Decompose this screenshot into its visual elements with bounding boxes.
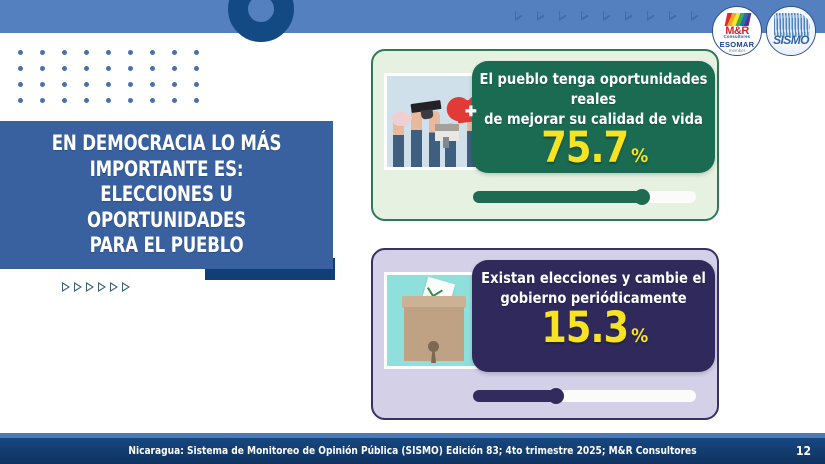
card-value-group: 75.7 %: [539, 127, 649, 170]
dot: [150, 82, 155, 87]
dot: [84, 50, 89, 55]
dot: [106, 50, 111, 55]
triangle-icon: [691, 11, 699, 21]
label-pill-elecciones: Existan elecciones y cambie el gobierno …: [472, 260, 715, 372]
top-blue-band: [0, 0, 825, 33]
triangle-icon: [559, 11, 567, 21]
dot: [106, 66, 111, 71]
triangle-icon: [647, 11, 655, 21]
dot: [84, 82, 89, 87]
dot: [194, 66, 199, 71]
triangle-icon: [515, 11, 523, 21]
dot: [62, 98, 67, 103]
progress-slider-elecciones[interactable]: [473, 390, 696, 402]
page-title: EN DEMOCRACIA LO MÁS IMPORTANTE ES: ELEC…: [20, 131, 313, 259]
dot: [150, 66, 155, 71]
dot: [150, 98, 155, 103]
dot: [128, 82, 133, 87]
result-card-elecciones: Existan elecciones y cambie el gobierno …: [371, 248, 719, 420]
medical-cross-icon: ✚: [465, 104, 477, 118]
slider-fill: [473, 390, 556, 402]
dot: [194, 82, 199, 87]
top-arrow-decoration: [515, 11, 699, 21]
footer-bar: Nicaragua: Sistema de Monitoreo de Opini…: [0, 438, 825, 464]
footer-source-text: Nicaragua: Sistema de Monitoreo de Opini…: [17, 438, 809, 464]
page-number: 12: [796, 438, 811, 464]
dot: [62, 82, 67, 87]
dot: [62, 66, 67, 71]
sismo-logo: SISMO: [766, 6, 816, 56]
dot: [172, 66, 177, 71]
dot: [62, 50, 67, 55]
piggy-bank-icon: [392, 112, 410, 126]
dot: [128, 50, 133, 55]
triangle-icon: [581, 11, 589, 21]
card-label: El pueblo tenga oportunidades reales de …: [479, 70, 707, 129]
dot: [128, 66, 133, 71]
dot: [18, 82, 23, 87]
progress-slider-oportunidades[interactable]: [473, 191, 696, 203]
dot: [194, 98, 199, 103]
mr-consultores-logo: M&R Consultores ESOMAR member: [712, 6, 762, 56]
dot: [40, 98, 45, 103]
dot: [84, 66, 89, 71]
dot: [84, 98, 89, 103]
dot: [40, 82, 45, 87]
slider-knob[interactable]: [634, 189, 650, 205]
percent-sign: %: [631, 147, 648, 166]
triangle-icon: [669, 11, 677, 21]
dot: [106, 98, 111, 103]
slider-knob[interactable]: [548, 388, 564, 404]
dot: [172, 50, 177, 55]
title-block: EN DEMOCRACIA LO MÁS IMPORTANTE ES: ELEC…: [0, 121, 333, 269]
dot: [18, 98, 23, 103]
slider-fill: [473, 191, 642, 203]
label-pill-oportunidades: El pueblo tenga oportunidades reales de …: [472, 61, 715, 173]
dot: [106, 82, 111, 87]
card-value-group: 15.3 %: [539, 307, 649, 350]
mr-logo-subtitle: Consultores: [713, 34, 761, 39]
dot: [18, 66, 23, 71]
card-percent-value: 75.7: [541, 127, 628, 170]
percent-sign: %: [631, 327, 648, 346]
esomar-member-label: member: [713, 48, 761, 53]
card-percent-value: 15.3: [541, 307, 628, 350]
result-card-oportunidades: ✚ El pueblo tenga oportunidades reales d…: [371, 49, 719, 221]
dot: [194, 50, 199, 55]
keyhole-icon: [428, 341, 439, 352]
triangle-icon: [603, 11, 611, 21]
sismo-logo-name: SISMO: [767, 33, 815, 47]
dot: [172, 98, 177, 103]
house-icon: [435, 124, 459, 141]
triangle-icon: [537, 11, 545, 21]
ring-decoration: [228, 0, 294, 42]
triangle-icon: [625, 11, 633, 21]
dot: [40, 66, 45, 71]
dot: [128, 98, 133, 103]
dot-grid-decoration: [18, 50, 216, 114]
dot: [40, 50, 45, 55]
dot: [150, 50, 155, 55]
dot: [18, 50, 23, 55]
dot: [172, 82, 177, 87]
slide-root: M&R Consultores ESOMAR member SISMO EN D…: [0, 0, 825, 464]
